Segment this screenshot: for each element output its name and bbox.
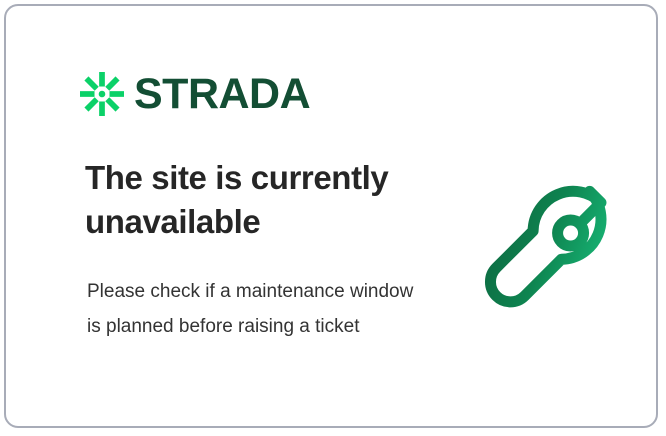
page-title: The site is currently unavailable bbox=[85, 156, 445, 243]
brand-logo: STRADA bbox=[80, 72, 310, 116]
status-description: Please check if a maintenance window is … bbox=[87, 274, 417, 344]
strada-asterisk-icon bbox=[80, 72, 124, 116]
wrench-icon bbox=[458, 158, 628, 318]
brand-wordmark: STRADA bbox=[134, 73, 310, 116]
status-card: STRADA The site is currently unavailable… bbox=[4, 4, 658, 428]
